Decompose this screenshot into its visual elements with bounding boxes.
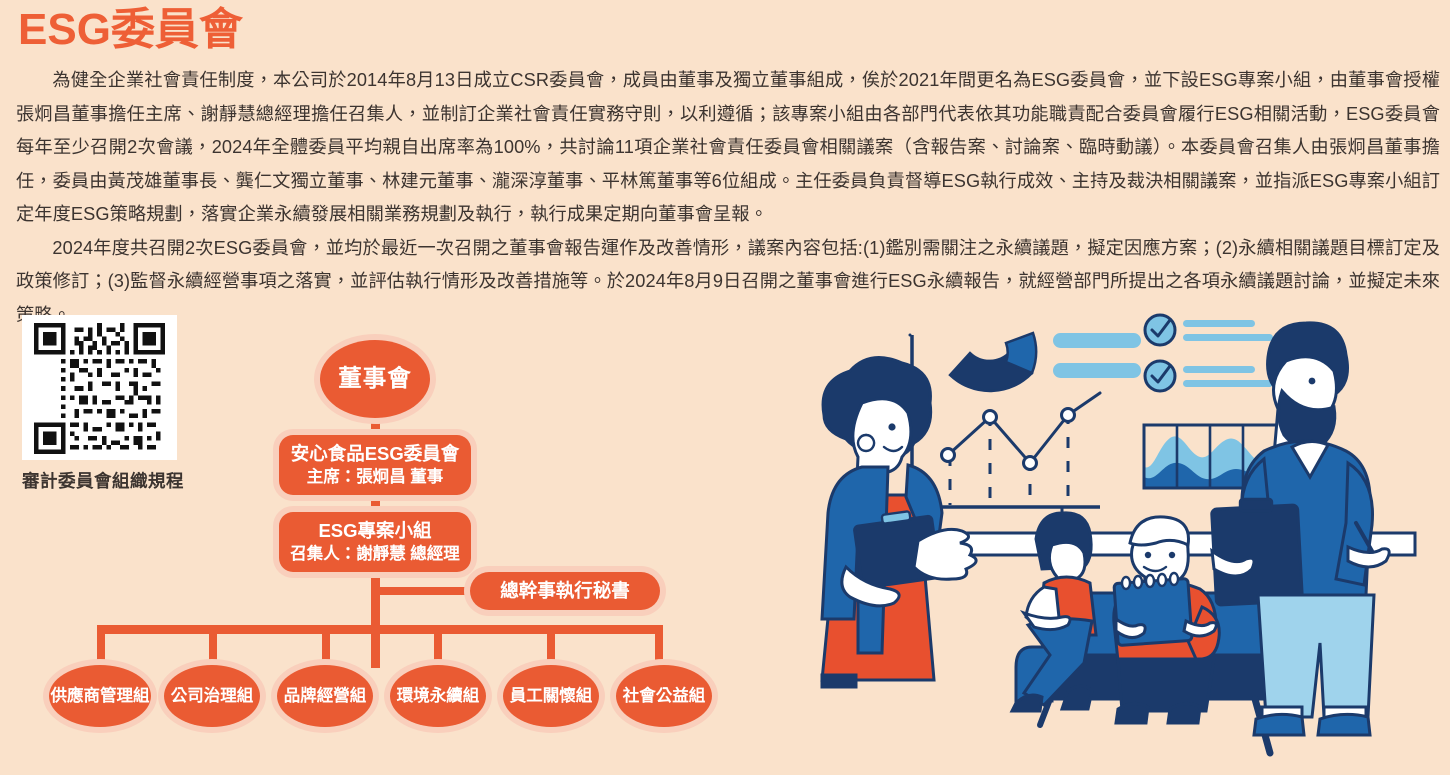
org-chart: 董事會 安心食品ESG委員會 主席：張炯昌 董事 ESG專案小組 召集人：謝靜慧… — [0, 300, 760, 760]
org-node-task-force[interactable]: ESG專案小組 召集人：謝靜慧 總經理 — [279, 512, 471, 572]
team-reviewing-charts-illustration: .nv{fill:#1b3a6b}.bl{fill:#1f66ab}.lb{fi… — [800, 295, 1450, 775]
org-node-department-environment[interactable]: 環境永續組 — [390, 665, 486, 727]
org-node-board-label: 董事會 — [338, 364, 412, 393]
org-node-secretary[interactable]: 總幹事執行秘書 — [470, 572, 660, 610]
org-node-department-supplier[interactable]: 供應商管理組 — [49, 665, 151, 727]
org-node-department-label: 社會公益組 — [623, 686, 706, 707]
legend-bars-left — [1053, 333, 1141, 378]
org-node-department-employee[interactable]: 員工關懷組 — [503, 665, 599, 727]
page-title: ESG委員會 — [18, 6, 243, 54]
org-node-secretary-label: 總幹事執行秘書 — [500, 579, 630, 602]
org-node-department-label: 供應商管理組 — [51, 686, 150, 707]
esg-committee-page: ESG委員會 為健全企業社會責任制度，本公司於2014年8月13日成立CSR委員… — [0, 0, 1450, 775]
org-node-department-label: 公司治理組 — [171, 686, 254, 707]
checklist-graphic — [1145, 315, 1273, 391]
org-node-task-force-convener: 召集人：謝靜慧 總經理 — [290, 544, 460, 565]
org-node-committee[interactable]: 安心食品ESG委員會 主席：張炯昌 董事 — [279, 435, 471, 495]
person-presenter-woman — [822, 358, 976, 687]
org-node-department-label: 品牌經營組 — [284, 686, 367, 707]
paragraph-1: 為健全企業社會責任制度，本公司於2014年8月13日成立CSR委員會，成員由董事… — [16, 64, 1440, 232]
org-node-department-label: 員工關懷組 — [510, 686, 593, 707]
org-node-task-force-title: ESG專案小組 — [318, 519, 431, 542]
org-node-department-brand[interactable]: 品牌經營組 — [277, 665, 373, 727]
org-node-committee-title: 安心食品ESG委員會 — [291, 442, 460, 465]
org-node-board[interactable]: 董事會 — [320, 340, 430, 418]
org-node-department-community[interactable]: 社會公益組 — [616, 665, 712, 727]
body-copy: 為健全企業社會責任制度，本公司於2014年8月13日成立CSR委員會，成員由董事… — [16, 64, 1440, 332]
illustration-svg: .nv{fill:#1b3a6b}.bl{fill:#1f66ab}.lb{fi… — [800, 295, 1450, 775]
org-node-department-label: 環境永續組 — [397, 686, 480, 707]
org-node-department-governance[interactable]: 公司治理組 — [164, 665, 260, 727]
donut-chart-graphic — [950, 333, 1036, 391]
org-node-committee-chair: 主席：張炯昌 董事 — [307, 467, 444, 488]
